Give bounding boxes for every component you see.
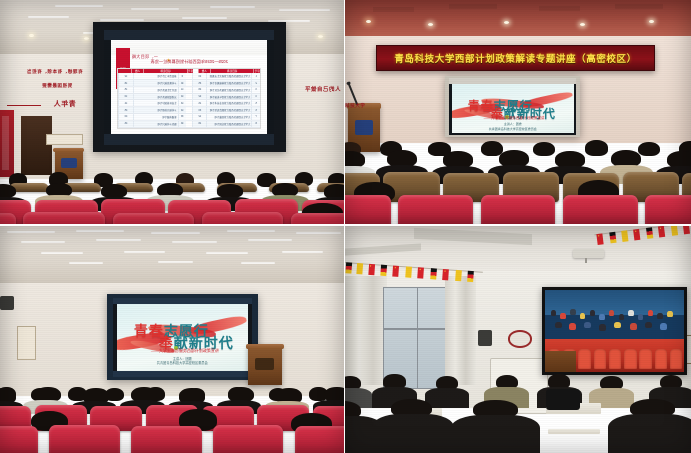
projection-screen: 青春志愿行 奉献新时代 ——大学生志愿服务西部计划政策宣讲 主讲人：团委 共青团… bbox=[107, 294, 258, 380]
classroom-projection-screen bbox=[542, 287, 686, 375]
slide-subtitle: ——大学生志愿服务西部计划政策宣讲 bbox=[151, 348, 237, 354]
headline-blue-1: 青春 bbox=[468, 99, 494, 113]
event-banner: 青岛科技大学西部计划政策解读专题讲座（高密校区） bbox=[376, 45, 655, 72]
slide-title: 2025—2026年度西部计划招募岗位一览表 bbox=[111, 59, 267, 65]
classroom-scene bbox=[345, 226, 691, 453]
panel-top-left-auditorium-table-slide: 人的己自做平 有理想、有本领、有担当 到祖国最需要 青年人 项目 bbox=[0, 0, 344, 224]
slide-subtitle: ——大学生志愿服务西部计划政策宣讲 bbox=[484, 116, 564, 121]
wall-speaker bbox=[0, 296, 14, 310]
auditorium-scene-mirrored: 人的己自做平 有理想、有本领、有担当 到祖国最需要 青年人 项目 bbox=[0, 0, 344, 224]
projector bbox=[573, 249, 604, 258]
wall-notice-plate bbox=[46, 134, 82, 145]
event-banner-text: 青岛科技大学西部计划政策解读专题讲座（高密校区） bbox=[394, 51, 636, 65]
stream-crowd bbox=[545, 305, 683, 343]
wall-slogan-right-line3: 青年人 bbox=[53, 99, 76, 109]
table-row: 5大学生志愿服务西部计划农业技术专项16 13生态环境保护专项14 bbox=[118, 100, 260, 107]
wall-slogan-left: 人的己自做平 bbox=[305, 85, 341, 93]
presenter-line-2: 共青团青岛科技大学高密校区委员会 bbox=[452, 127, 574, 132]
presenter-line-2: 共青团青岛科技大学高密校区委员会 bbox=[117, 361, 248, 366]
table-row: 6大学生志愿服务西部计划脱贫攻坚专项30 14乡村振兴协理专项25 bbox=[118, 107, 260, 114]
photo-collage: 人的己自做平 有理想、有本领、有担当 到祖国最需要 青年人 项目 bbox=[0, 0, 691, 453]
panel-bottom-right-classroom-livestream bbox=[345, 226, 691, 453]
panel-bottom-left-auditorium-poster: 青春志愿行 奉献新时代 ——大学生志愿服务西部计划政策宣讲 主讲人：团委 共青团… bbox=[0, 226, 344, 453]
table-row: 3大学生志愿服务西部计划服务社区专项28 11医疗卫生服务专项15 bbox=[118, 87, 260, 94]
seat-row-nearest bbox=[0, 206, 344, 224]
slide-volunteer-poster: 青春志愿行 奉献新时代 ——大学生志愿服务西部计划政策宣讲 主讲人：团委 共青团… bbox=[452, 84, 574, 132]
classroom-row-front bbox=[345, 399, 691, 453]
window-curtain bbox=[445, 276, 476, 385]
招募岗位-table: 序号 项目名称 人数 序号 项目名称 人数 1大学生志愿服务西部计划研究生支教 bbox=[117, 68, 261, 129]
control-panel[interactable] bbox=[17, 326, 36, 360]
table-row: 2大学生志愿服务西部计划基础教育专项35 10乡村教育振兴专项18 bbox=[118, 80, 260, 87]
panel-top-right-auditorium-banner: 青岛科技大学西部计划政策解读专题讲座（高密校区） 青春志愿行 bbox=[345, 0, 691, 224]
wall-underline bbox=[7, 105, 41, 106]
slide-table: 项目 一、项目大概 2025—2026年度西部计划招募岗位一览表 序号 项目名称… bbox=[111, 40, 267, 134]
seat-row-front bbox=[345, 188, 691, 224]
window-curtain bbox=[345, 276, 387, 385]
ceiling-red bbox=[345, 0, 691, 38]
livestream-view bbox=[545, 290, 683, 372]
projection-screen: 项目 一、项目大概 2025—2026年度西部计划招募岗位一览表 序号 项目名称… bbox=[93, 22, 286, 152]
screen-inner: 项目 一、项目大概 2025—2026年度西部计划招募岗位一览表 序号 项目名称… bbox=[104, 30, 274, 144]
projection-screen: 青春志愿行 奉献新时代 ——大学生志愿服务西部计划政策宣讲 主讲人：团委 共青团… bbox=[445, 76, 580, 136]
slide-presenter: 主讲人：团委 共青团青岛科技大学高密校区委员会 bbox=[452, 122, 574, 131]
slide-surface: 项目 一、项目大概 2025—2026年度西部计划招募岗位一览表 序号 项目名称… bbox=[111, 40, 267, 134]
wall-slogan-right-line1: 有理想、有本领、有担当 bbox=[27, 69, 83, 75]
auditorium-scene-poster: 青春志愿行 奉献新时代 ——大学生志愿服务西部计划政策宣讲 主讲人：团委 共青团… bbox=[0, 226, 344, 453]
ceiling-grid bbox=[0, 226, 344, 287]
stream-stage-desk bbox=[545, 351, 575, 372]
slide-surface: 青春志愿行 奉献新时代 ——大学生志愿服务西部计划政策宣讲 主讲人：团委 共青团… bbox=[452, 84, 574, 132]
table-row: 8大学生志愿服务西部计划兵团专项18 16服务乡村振兴专项26 bbox=[118, 121, 260, 128]
ceiling bbox=[0, 226, 344, 287]
wall-speaker bbox=[478, 330, 492, 346]
podium-nameplate: 科技大学 bbox=[345, 103, 365, 109]
wall-slogan-right-line2: 到祖国最需要 bbox=[42, 83, 73, 89]
seat-row-front bbox=[0, 417, 344, 453]
auditorium-scene-banner: 青岛科技大学西部计划政策解读专题讲座（高密校区） 青春志愿行 bbox=[345, 0, 691, 224]
slide-presenter: 主讲人：团委 共青团青岛科技大学高密校区委员会 bbox=[117, 357, 248, 367]
screen-toolbar-top bbox=[104, 30, 274, 40]
slide-surface: 青春志愿行 奉献新时代 ——大学生志愿服务西部计划政策宣讲 主讲人：团委 共青团… bbox=[117, 304, 248, 371]
slide-header bbox=[111, 40, 267, 54]
screen-inner: 青春志愿行 奉献新时代 ——大学生志愿服务西部计划政策宣讲 主讲人：团委 共青团… bbox=[113, 298, 252, 377]
screen-inner: 青春志愿行 奉献新时代 ——大学生志愿服务西部计划政策宣讲 主讲人：团委 共青团… bbox=[449, 78, 576, 135]
livestream-auditorium bbox=[545, 290, 683, 372]
table-row: 4大学生志愿服务西部计划青年发展专项22 12法律援助服务专项10 bbox=[118, 94, 260, 101]
grid-divider-horizontal bbox=[0, 224, 691, 226]
screen-toolbar-bottom bbox=[104, 134, 274, 144]
table-row: 7大学生志愿服务西部计划西藏专项12 15新疆南疆专项20 bbox=[118, 114, 260, 121]
grid-divider-vertical bbox=[344, 0, 345, 453]
slide-volunteer-poster: 青春志愿行 奉献新时代 ——大学生志愿服务西部计划政策宣讲 主讲人：团委 共青团… bbox=[117, 304, 248, 371]
wall-clock-icon bbox=[508, 330, 533, 348]
table-row: 1大学生志愿服务西部计划研究生支教团20 9基层青年工作专项12 bbox=[118, 73, 260, 80]
